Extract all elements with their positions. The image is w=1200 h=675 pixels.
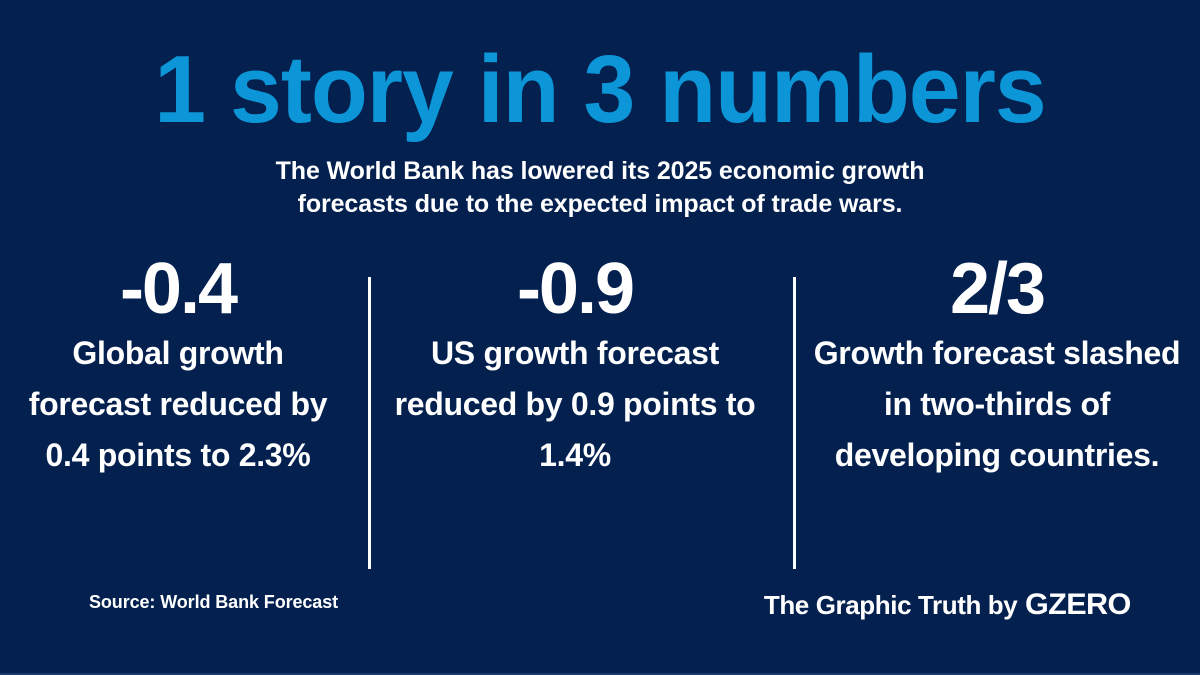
column-divider-right xyxy=(793,277,796,569)
stat-description: Global growth forecast reduced by 0.4 po… xyxy=(14,328,342,481)
stat-card-developing-countries: 2/3 Growth forecast slashed in two-third… xyxy=(794,252,1200,481)
stat-description: US growth forecast reduced by 0.9 points… xyxy=(370,328,780,481)
stat-number: -0.4 xyxy=(14,252,342,326)
branding: The Graphic Truth by GZERO xyxy=(764,588,1130,622)
column-divider-left xyxy=(368,277,371,569)
stat-number: -0.9 xyxy=(370,252,780,326)
page-subtitle: The World Bank has lowered its 2025 econ… xyxy=(250,155,950,221)
stat-card-global-growth: -0.4 Global growth forecast reduced by 0… xyxy=(0,252,356,481)
stat-card-us-growth: -0.9 US growth forecast reduced by 0.9 p… xyxy=(356,252,794,481)
stat-description: Growth forecast slashed in two-thirds of… xyxy=(808,328,1186,481)
stat-number: 2/3 xyxy=(808,252,1186,326)
stats-row: -0.4 Global growth forecast reduced by 0… xyxy=(0,252,1200,572)
page-title: 1 story in 3 numbers xyxy=(18,42,1182,138)
brand-prefix-label: The Graphic Truth by xyxy=(764,590,1017,621)
source-attribution: Source: World Bank Forecast xyxy=(89,592,338,613)
infographic-canvas: 1 story in 3 numbers The World Bank has … xyxy=(0,0,1200,675)
gzero-logo: GZERO xyxy=(1025,588,1131,622)
